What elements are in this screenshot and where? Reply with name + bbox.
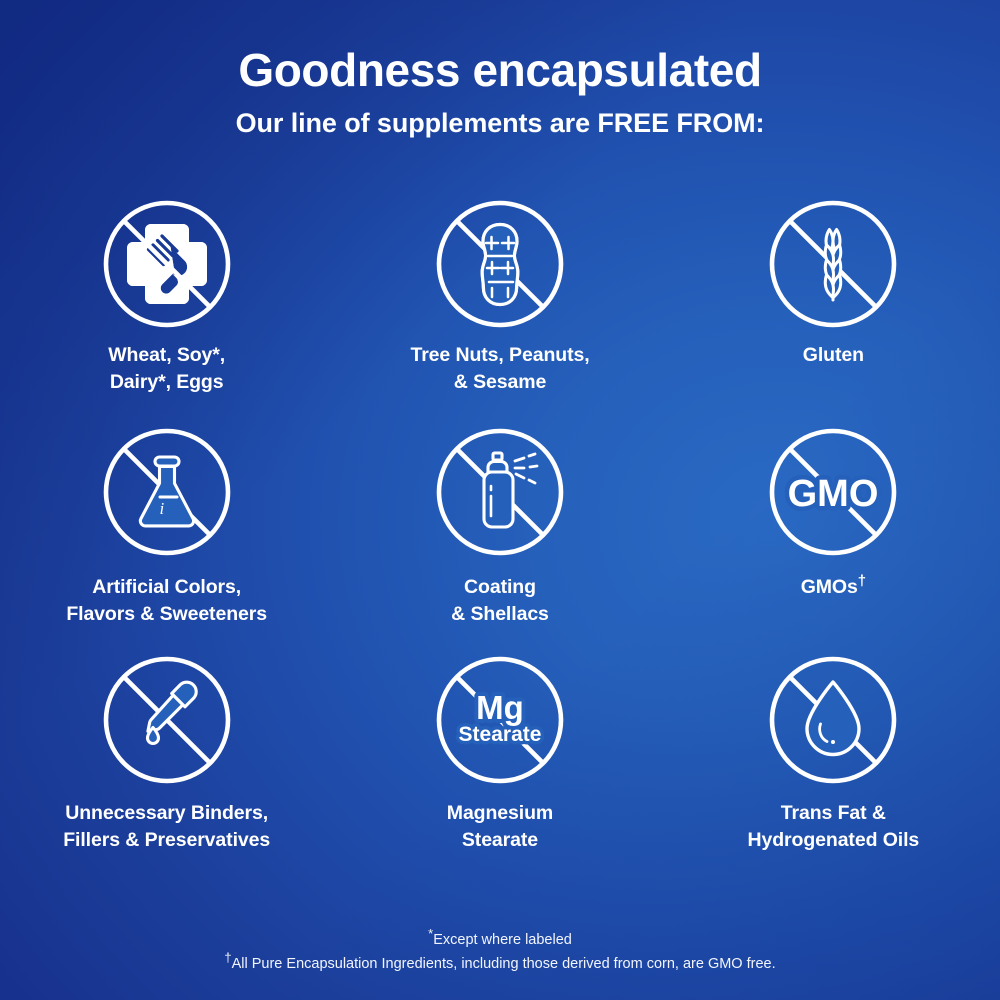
page-subtitle: Our line of supplements are FREE FROM: bbox=[0, 108, 1000, 139]
infographic-page: Goodness encapsulated Our line of supple… bbox=[0, 0, 1000, 1000]
page-title: Goodness encapsulated bbox=[0, 44, 1000, 97]
free-from-grid: Wheat, Soy*, Dairy*, Eggs bbox=[0, 200, 1000, 884]
no-spray-can-icon bbox=[436, 428, 564, 556]
header: Goodness encapsulated Our line of supple… bbox=[0, 44, 1000, 139]
free-from-item: i Artificial Colors, Flavors & Sweetener… bbox=[0, 428, 333, 656]
free-from-label: Unnecessary Binders, Fillers & Preservat… bbox=[63, 800, 270, 853]
free-from-item: Gluten bbox=[667, 200, 1000, 428]
free-from-label: Wheat, Soy*, Dairy*, Eggs bbox=[108, 342, 225, 395]
gmo-text: GMO bbox=[788, 473, 879, 515]
no-gmo-icon: GMO GMO bbox=[769, 428, 897, 556]
free-from-label: Artificial Colors, Flavors & Sweeteners bbox=[66, 574, 267, 627]
free-from-item: Tree Nuts, Peanuts, & Sesame bbox=[333, 200, 666, 428]
free-from-label: Magnesium Stearate bbox=[447, 800, 553, 853]
svg-text:i: i bbox=[159, 499, 164, 518]
dagger-marker: † bbox=[858, 573, 866, 590]
free-from-item: GMO GMO GMOs† bbox=[667, 428, 1000, 656]
no-allergen-cross-fork-icon bbox=[103, 200, 231, 328]
dagger-marker: † bbox=[224, 950, 231, 965]
free-from-label: GMOs† bbox=[801, 574, 866, 601]
footnote-dagger: †All Pure Encapsulation Ingredients, inc… bbox=[0, 953, 1000, 976]
footnote-dagger-text: All Pure Encapsulation Ingredients, incl… bbox=[232, 956, 776, 972]
gmos-label-text: GMOs bbox=[801, 576, 858, 598]
no-peanut-icon bbox=[436, 200, 564, 328]
free-from-label: Gluten bbox=[803, 342, 864, 369]
no-wheat-stalk-icon bbox=[769, 200, 897, 328]
free-from-label: Tree Nuts, Peanuts, & Sesame bbox=[410, 342, 589, 395]
free-from-item: Mg Mg Stearate Stearate Magnesium Steara… bbox=[333, 656, 666, 884]
footnote-asterisk: *Except where labeled bbox=[0, 929, 1000, 952]
free-from-item: Wheat, Soy*, Dairy*, Eggs bbox=[0, 200, 333, 428]
mg-text: Mg bbox=[476, 689, 524, 726]
footnotes: *Except where labeled †All Pure Encapsul… bbox=[0, 929, 1000, 976]
free-from-label: Trans Fat & Hydrogenated Oils bbox=[747, 800, 919, 853]
free-from-item: Trans Fat & Hydrogenated Oils bbox=[667, 656, 1000, 884]
free-from-item: Unnecessary Binders, Fillers & Preservat… bbox=[0, 656, 333, 884]
no-oil-droplet-icon bbox=[769, 656, 897, 784]
free-from-item: Coating & Shellacs bbox=[333, 428, 666, 656]
no-flask-icon: i bbox=[103, 428, 231, 556]
free-from-label: Coating & Shellacs bbox=[451, 574, 549, 627]
no-magnesium-stearate-icon: Mg Mg Stearate Stearate bbox=[436, 656, 564, 784]
footnote-asterisk-text: Except where labeled bbox=[433, 932, 572, 948]
no-dropper-icon bbox=[103, 656, 231, 784]
stearate-text: Stearate bbox=[459, 723, 542, 746]
